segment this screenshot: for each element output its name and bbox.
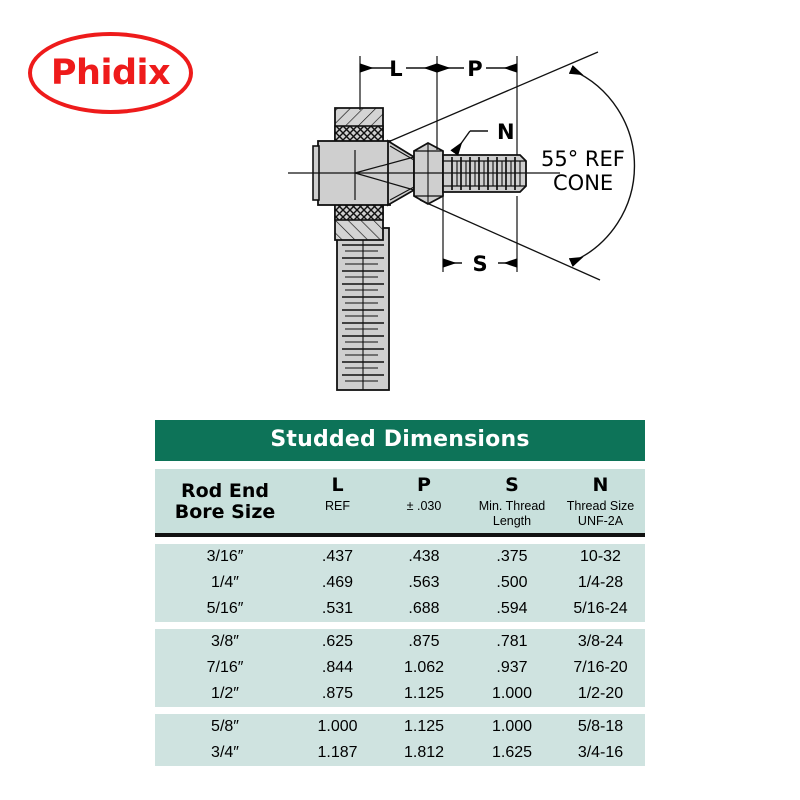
- column-header-bore-size-line2: Bore Size: [175, 502, 276, 523]
- column-header-bore-size-line1: Rod End: [181, 481, 269, 502]
- column-header-l-sub: REF: [325, 499, 350, 514]
- cell-s: .594: [468, 600, 556, 618]
- cell-s: .375: [468, 548, 556, 566]
- column-header-s-sub2: Length: [493, 514, 531, 529]
- table-row: 3/8″ .625 .875 .781 3/8-24: [155, 629, 645, 655]
- cell-n: 5/16-24: [556, 600, 645, 618]
- table-row: 3/16″ .437 .438 .375 10-32: [155, 544, 645, 570]
- column-header-n-sub2: UNF-2A: [578, 514, 623, 529]
- cell-bore: 5/8″: [155, 718, 295, 736]
- table-row: 1/4″ .469 .563 .500 1/4-28: [155, 570, 645, 596]
- cell-s: 1.000: [468, 718, 556, 736]
- cell-p: .875: [380, 633, 468, 651]
- column-header-bore-size: Rod End Bore Size: [155, 475, 295, 529]
- cell-n: 1/2-20: [556, 685, 645, 703]
- cell-p: 1.125: [380, 718, 468, 736]
- rod-end-technical-drawing: L P S N 55° REF CONE: [0, 0, 800, 410]
- column-header-l-main: L: [331, 475, 343, 496]
- table-row: 3/4″ 1.187 1.812 1.625 3/4-16: [155, 740, 645, 766]
- column-header-n-sub: Thread Size: [567, 499, 634, 514]
- cell-bore: 3/8″: [155, 633, 295, 651]
- table-row: 7/16″ .844 1.062 .937 7/16-20: [155, 655, 645, 681]
- column-header-s-sub: Min. Thread: [479, 499, 545, 514]
- cell-n: 5/8-18: [556, 718, 645, 736]
- cell-n: 3/4-16: [556, 744, 645, 762]
- cell-n: 1/4-28: [556, 574, 645, 592]
- cell-l: .875: [295, 685, 380, 703]
- table-header-row: Rod End Bore Size L REF P ± .030 S Min. …: [155, 469, 645, 537]
- cell-l: 1.000: [295, 718, 380, 736]
- cell-l: .531: [295, 600, 380, 618]
- label-dim-s: S: [472, 252, 487, 276]
- cell-p: .438: [380, 548, 468, 566]
- column-header-p: P ± .030: [380, 475, 468, 529]
- cell-s: 1.625: [468, 744, 556, 762]
- cell-n: 3/8-24: [556, 633, 645, 651]
- column-header-p-main: P: [417, 475, 431, 496]
- label-cone-note-line2: CONE: [553, 171, 613, 195]
- cell-s: 1.000: [468, 685, 556, 703]
- label-dim-l: L: [389, 57, 402, 81]
- column-header-n-main: N: [593, 475, 609, 496]
- column-header-n: N Thread Size UNF-2A: [556, 475, 645, 529]
- table-row: 5/8″ 1.000 1.125 1.000 5/8-18: [155, 714, 645, 740]
- cell-n: 7/16-20: [556, 659, 645, 677]
- column-header-s: S Min. Thread Length: [468, 475, 556, 529]
- cell-p: .563: [380, 574, 468, 592]
- table-title: Studded Dimensions: [155, 420, 645, 461]
- drawing-svg: L P S N 55° REF CONE: [0, 0, 800, 410]
- cell-p: 1.125: [380, 685, 468, 703]
- cell-p: 1.812: [380, 744, 468, 762]
- table-group: 3/8″ .625 .875 .781 3/8-24 7/16″ .844 1.…: [155, 629, 645, 707]
- column-header-s-main: S: [505, 475, 519, 496]
- page-root: Phidix: [0, 0, 800, 800]
- cell-bore: 5/16″: [155, 600, 295, 618]
- cell-n: 10-32: [556, 548, 645, 566]
- cell-l: 1.187: [295, 744, 380, 762]
- studded-dimensions-table: Studded Dimensions Rod End Bore Size L R…: [155, 420, 645, 766]
- cell-bore: 3/16″: [155, 548, 295, 566]
- table-row: 5/16″ .531 .688 .594 5/16-24: [155, 596, 645, 622]
- column-header-p-sub: ± .030: [407, 499, 442, 514]
- cell-p: 1.062: [380, 659, 468, 677]
- shank-threaded-body: [337, 228, 389, 390]
- table-group: 3/16″ .437 .438 .375 10-32 1/4″ .469 .56…: [155, 544, 645, 622]
- leader-line-n: [455, 131, 488, 152]
- cell-l: .625: [295, 633, 380, 651]
- cell-bore: 7/16″: [155, 659, 295, 677]
- column-header-l: L REF: [295, 475, 380, 529]
- label-dim-p: P: [467, 57, 482, 81]
- cell-s: .500: [468, 574, 556, 592]
- cell-l: .437: [295, 548, 380, 566]
- cell-l: .844: [295, 659, 380, 677]
- cell-bore: 3/4″: [155, 744, 295, 762]
- cell-s: .937: [468, 659, 556, 677]
- table-group: 5/8″ 1.000 1.125 1.000 5/8-18 3/4″ 1.187…: [155, 714, 645, 766]
- cell-bore: 1/2″: [155, 685, 295, 703]
- cell-s: .781: [468, 633, 556, 651]
- label-cone-note-line1: 55° REF: [541, 147, 625, 171]
- table-row: 1/2″ .875 1.125 1.000 1/2-20: [155, 681, 645, 707]
- cell-p: .688: [380, 600, 468, 618]
- label-callout-n: N: [497, 120, 515, 144]
- cell-bore: 1/4″: [155, 574, 295, 592]
- cell-l: .469: [295, 574, 380, 592]
